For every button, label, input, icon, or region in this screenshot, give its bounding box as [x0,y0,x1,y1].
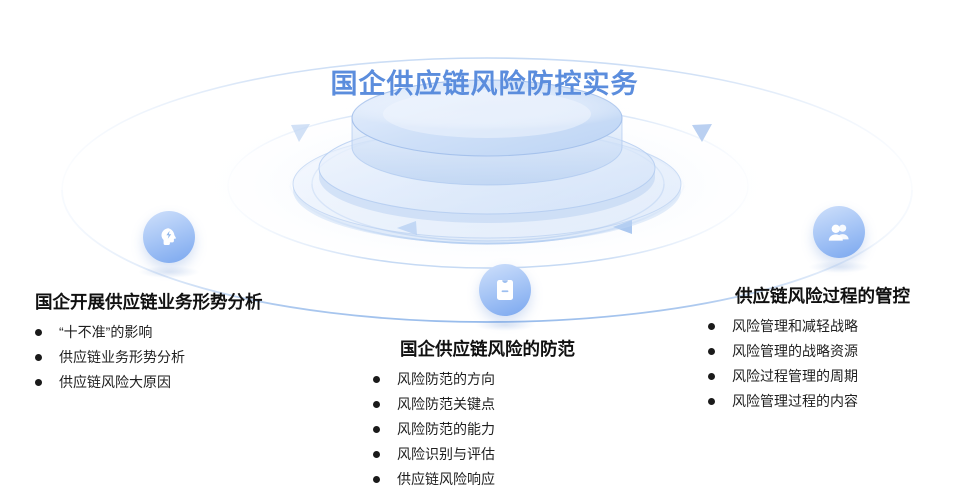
bullet-dot-icon [708,398,715,405]
section-right: 供应链风险过程的管控 风险管理和减轻战略 风险管理的战略资源 风险过程管理的周期… [708,283,910,419]
bullet-dot-icon [35,329,42,336]
list-item: 风险防范的方向 [373,372,575,386]
list-item-label: 风险防范的能力 [397,422,495,436]
bullet-dot-icon [708,348,715,355]
section-middle: 国企供应链风险的防范 风险防范的方向 风险防范关键点 风险防范的能力 风险识别与… [373,336,575,497]
node-icon-head-lightning[interactable] [143,211,195,263]
list-item-label: 供应链业务形势分析 [59,350,185,364]
bullet-dot-icon [373,451,380,458]
orbit-arrow-left [397,221,417,235]
list-item: “十不准”的影响 [35,325,263,339]
orbit-arrow-center [613,220,632,234]
section-right-heading: 供应链风险过程的管控 [708,283,910,308]
node-icon-users[interactable] [813,206,865,258]
node-shadow-left [138,266,200,278]
list-item: 风险管理过程的内容 [708,394,910,408]
list-item-label: 风险管理和减轻战略 [732,319,858,333]
list-item: 风险过程管理的周期 [708,369,910,383]
section-right-bullets: 风险管理和减轻战略 风险管理的战略资源 风险过程管理的周期 风险管理过程的内容 [708,319,910,408]
bullet-dot-icon [708,323,715,330]
clipboard-icon [493,277,517,303]
list-item: 风险识别与评估 [373,447,575,461]
bullet-dot-icon [708,373,715,380]
node-shadow-right [808,261,870,273]
section-middle-heading: 国企供应链风险的防范 [373,336,575,361]
bullet-dot-icon [35,354,42,361]
list-item: 风险防范关键点 [373,397,575,411]
list-item-label: 风险管理过程的内容 [732,394,858,408]
bullet-dot-icon [373,476,380,483]
orbit-arrow-upper-left [291,124,310,142]
section-left-bullets: “十不准”的影响 供应链业务形势分析 供应链风险大原因 [35,325,263,389]
platform-stack [293,80,681,244]
users-icon [826,220,852,244]
bullet-dot-icon [35,379,42,386]
slide-canvas: 国企供应链风险防控实务 [0,0,969,499]
list-item: 风险防范的能力 [373,422,575,436]
page-title: 国企供应链风险防控实务 [0,62,969,101]
head-lightning-icon [156,224,182,250]
node-icon-clipboard[interactable] [479,264,531,316]
list-item-label: 风险过程管理的周期 [732,369,858,383]
bullet-dot-icon [373,426,380,433]
list-item-label: 供应链风险响应 [397,472,495,486]
list-item-label: 风险防范关键点 [397,397,495,411]
orbit-arrow-upper-right [692,124,712,142]
section-left: 国企开展供应链业务形势分析 “十不准”的影响 供应链业务形势分析 供应链风险大原… [35,289,263,400]
list-item-label: “十不准”的影响 [59,325,152,339]
list-item-label: 风险识别与评估 [397,447,495,461]
list-item-label: 风险管理的战略资源 [732,344,858,358]
list-item: 风险管理和减轻战略 [708,319,910,333]
list-item: 供应链风险响应 [373,472,575,486]
list-item: 供应链风险大原因 [35,375,263,389]
section-middle-bullets: 风险防范的方向 风险防范关键点 风险防范的能力 风险识别与评估 供应链风险响应 [373,372,575,486]
section-left-heading: 国企开展供应链业务形势分析 [35,289,263,314]
bullet-dot-icon [373,401,380,408]
bullet-dot-icon [373,376,380,383]
list-item-label: 风险防范的方向 [397,372,495,386]
list-item: 风险管理的战略资源 [708,344,910,358]
list-item-label: 供应链风险大原因 [59,375,171,389]
node-shadow-mid [474,319,536,331]
list-item: 供应链业务形势分析 [35,350,263,364]
